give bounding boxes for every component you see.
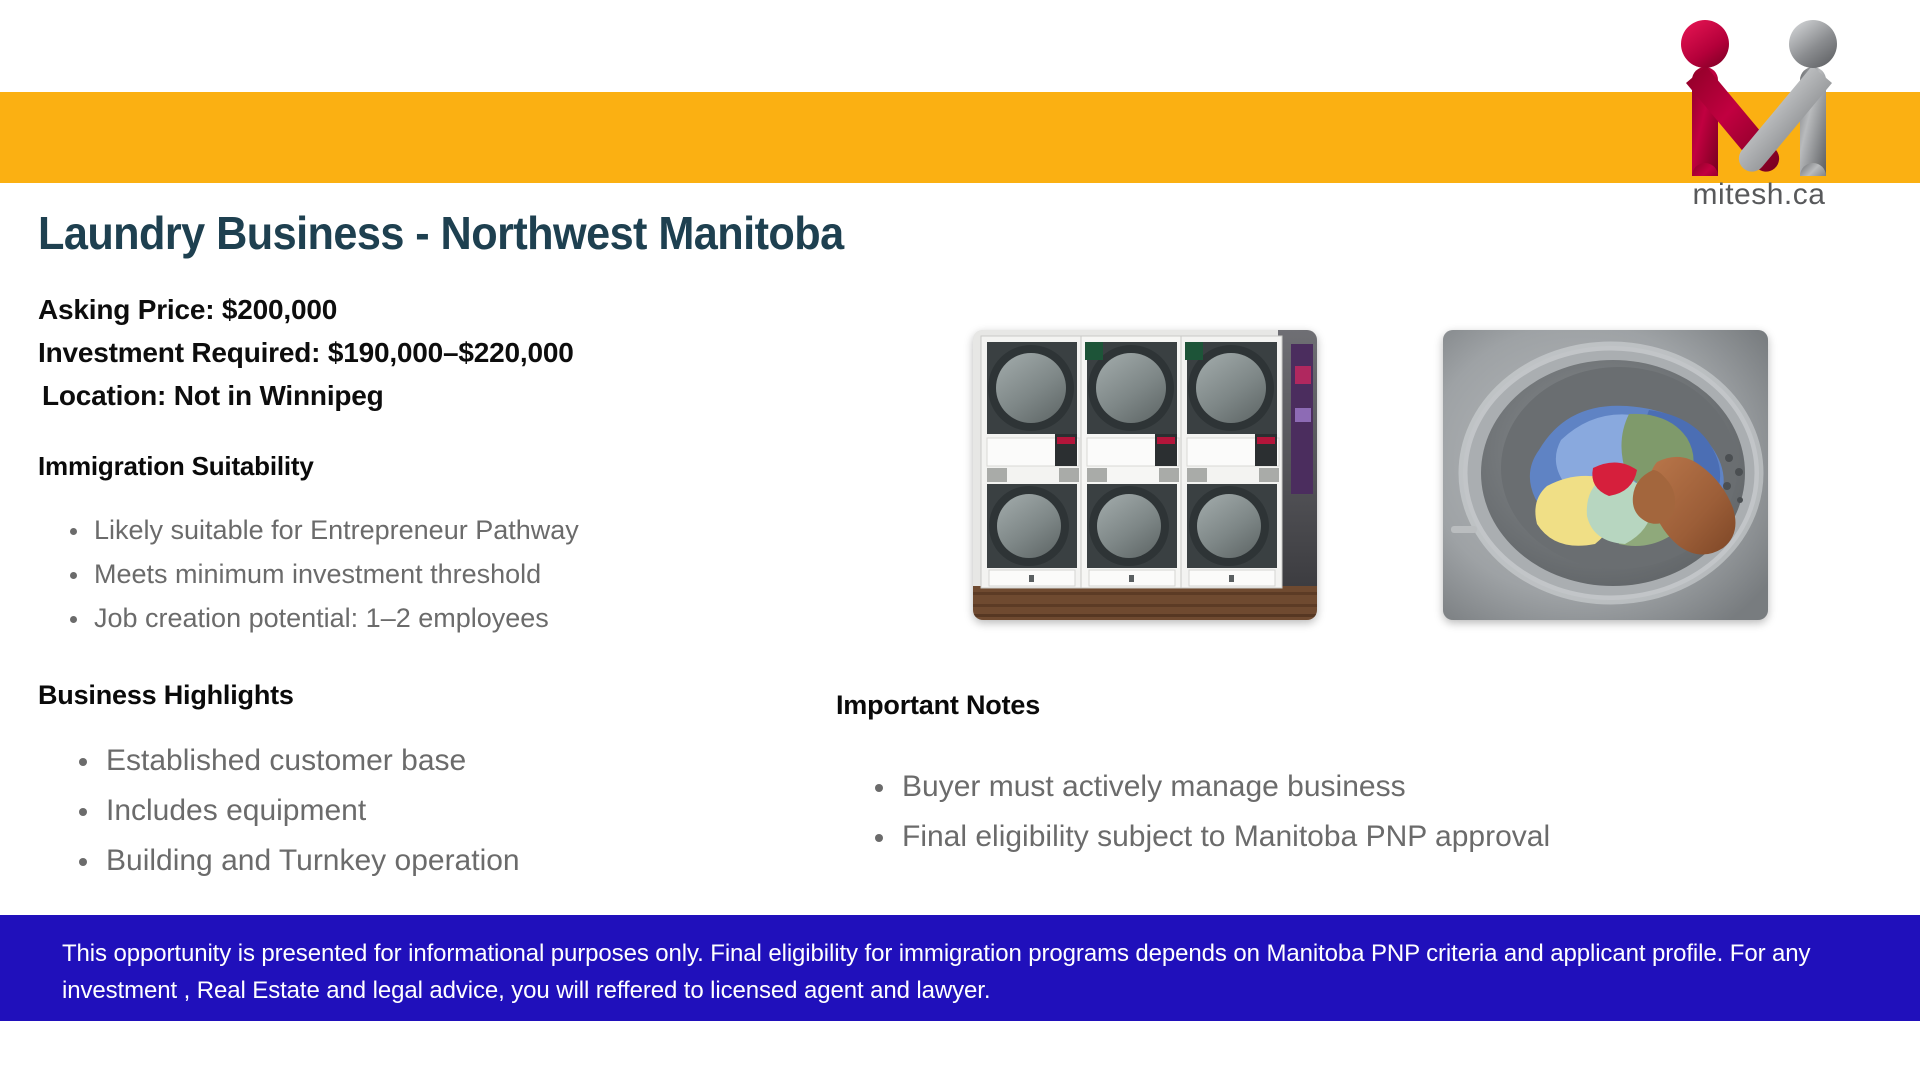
list-item: Job creation potential: 1–2 employees (62, 596, 579, 640)
list-immigration-suitability: Likely suitable for Entrepreneur Pathway… (62, 508, 579, 640)
list-item: Building and Turnkey operation (70, 836, 520, 886)
washer-drum-loading-photo (1443, 330, 1768, 620)
disclaimer-banner: This opportunity is presented for inform… (0, 915, 1920, 1021)
list-item: Meets minimum investment threshold (62, 552, 579, 596)
disclaimer-text: This opportunity is presented for inform… (62, 935, 1862, 1009)
list-item: Likely suitable for Entrepreneur Pathway (62, 508, 579, 552)
list-item: Established customer base (70, 736, 520, 786)
heading-immigration-suitability: Immigration Suitability (38, 451, 314, 482)
heading-important-notes: Important Notes (836, 690, 1040, 721)
list-business-highlights: Established customer base Includes equip… (70, 736, 520, 886)
brand-logo[interactable]: mitesh.ca (1654, 18, 1864, 226)
mitesh-m-handshake-icon (1668, 18, 1850, 176)
fact-investment-required: Investment Required: $190,000–$220,000 (38, 331, 798, 374)
top-accent-band (0, 92, 1920, 183)
list-item: Final eligibility subject to Manitoba PN… (866, 812, 1550, 862)
logo-wordmark: mitesh.ca (1654, 178, 1864, 212)
list-important-notes: Buyer must actively manage business Fina… (866, 762, 1550, 862)
key-facts: Asking Price: $200,000 Investment Requir… (38, 288, 798, 417)
fact-location: Location: Not in Winnipeg (38, 374, 798, 417)
commercial-stacked-dryers-photo (973, 330, 1317, 620)
list-item: Includes equipment (70, 786, 520, 836)
list-item: Buyer must actively manage business (866, 762, 1550, 812)
fact-asking-price: Asking Price: $200,000 (38, 288, 798, 331)
heading-business-highlights: Business Highlights (38, 680, 294, 711)
page-title: Laundry Business - Northwest Manitoba (38, 206, 844, 260)
